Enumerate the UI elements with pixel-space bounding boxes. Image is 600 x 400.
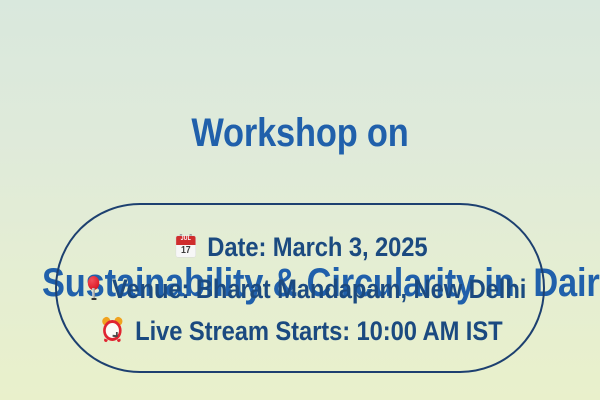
event-details-box: JUL 17 Date: March 3, 2025 Venue: Bharat… — [55, 203, 545, 373]
detail-text-date: Date: March 3, 2025 — [207, 232, 427, 262]
detail-row-date: JUL 17 Date: March 3, 2025 — [57, 225, 547, 267]
detail-text-livestream: Live Stream Starts: 10:00 AM IST — [135, 316, 502, 346]
alarm-clock-minute-hand — [113, 335, 118, 337]
calendar-day-label: 17 — [176, 245, 195, 256]
alarm-clock-foot-right — [117, 339, 121, 343]
event-details-list: JUL 17 Date: March 3, 2025 Venue: Bharat… — [57, 225, 547, 351]
calendar-month-label: JUL — [176, 236, 195, 242]
alarm-clock-icon — [101, 317, 123, 342]
map-pin-icon — [87, 275, 100, 301]
map-pin-tip — [91, 298, 96, 301]
detail-row-date-inner: JUL 17 Date: March 3, 2025 — [176, 225, 427, 267]
detail-row-venue: Venue: Bharat Mandapam, New Delhi — [57, 267, 547, 309]
page-title-line-1: Workshop on — [42, 108, 558, 158]
calendar-icon: JUL 17 — [176, 234, 195, 257]
event-poster: Workshop on Sustainability & Circularity… — [0, 0, 600, 400]
detail-row-livestream-inner: Live Stream Starts: 10:00 AM IST — [101, 309, 502, 351]
detail-text-venue: Venue: Bharat Mandapam, New Delhi — [112, 274, 526, 304]
detail-row-venue-inner: Venue: Bharat Mandapam, New Delhi — [87, 267, 526, 309]
detail-row-livestream: Live Stream Starts: 10:00 AM IST — [57, 309, 547, 351]
